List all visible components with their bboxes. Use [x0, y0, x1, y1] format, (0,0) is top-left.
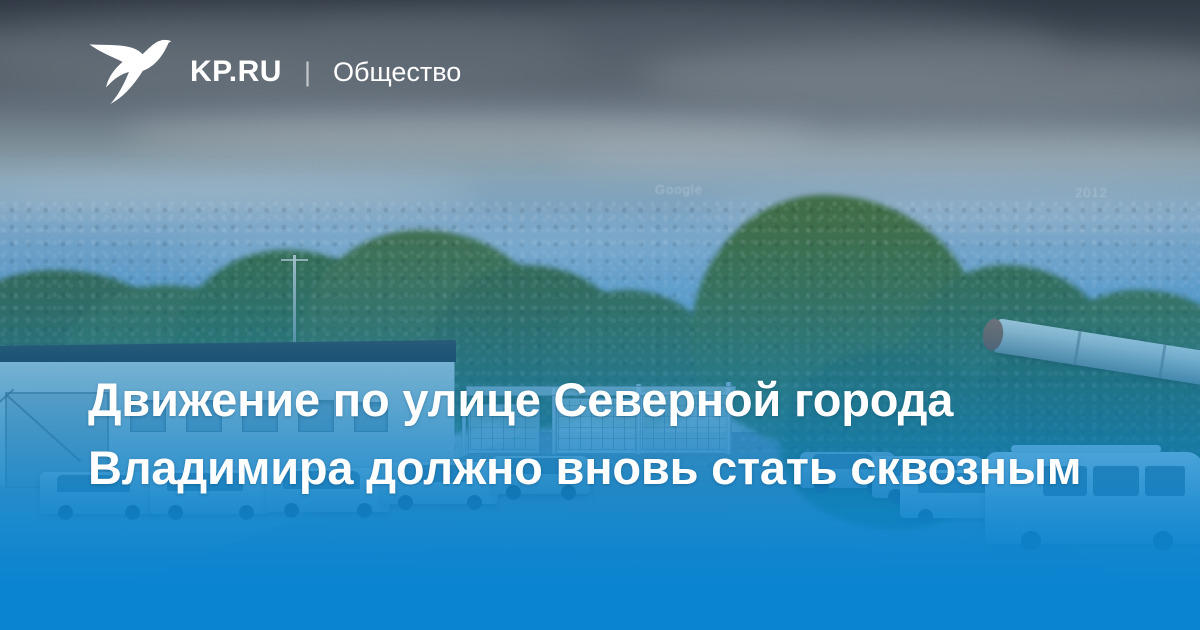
- headline-text: Движение по улице Северной города Владим…: [88, 366, 1088, 502]
- streetview-watermark: 2012: [1075, 185, 1108, 200]
- rubric-label[interactable]: Общество: [333, 57, 461, 88]
- brand-name[interactable]: KP.RU: [190, 55, 282, 89]
- streetview-watermark: Google: [655, 182, 703, 197]
- van-window: [1145, 466, 1185, 496]
- pipe-seam: [1073, 331, 1081, 365]
- share-card: Google 2012: [0, 0, 1200, 630]
- pipe-seam: [1158, 344, 1166, 378]
- kp-swallow-bird-logo-icon[interactable]: [88, 38, 172, 106]
- header-separator: |: [304, 57, 311, 88]
- card-header: KP.RU | Общество: [88, 38, 461, 106]
- van-window: [1093, 466, 1139, 496]
